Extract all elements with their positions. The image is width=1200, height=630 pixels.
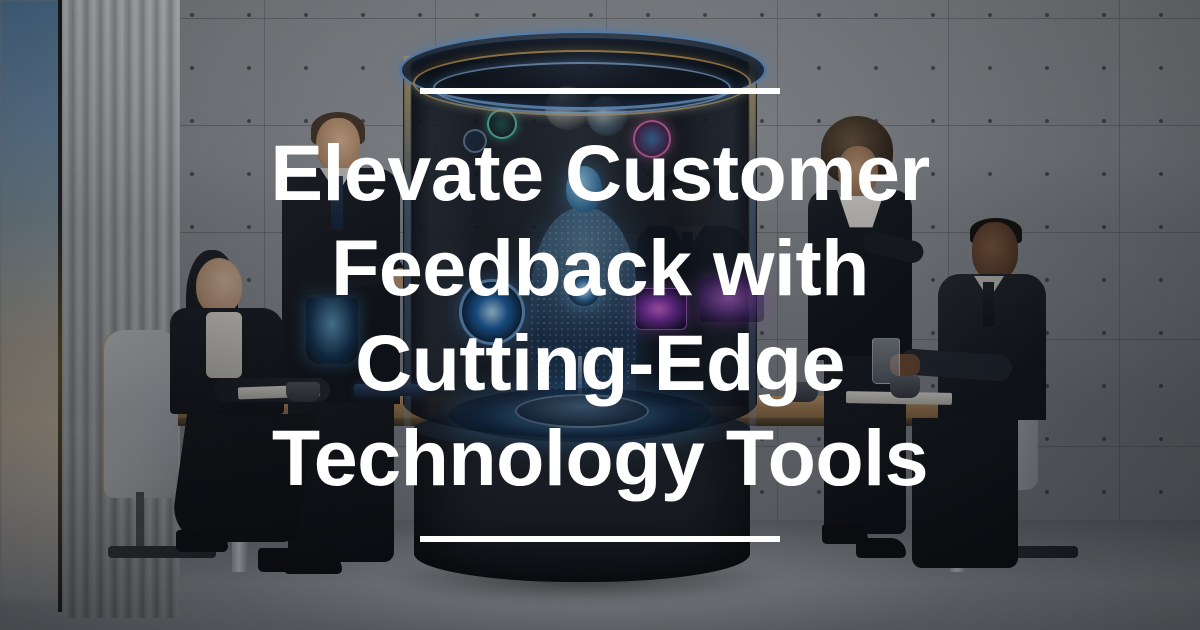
headline-line-2: Feedback with xyxy=(0,220,1200,315)
page-title: Elevate Customer Feedback with Cutting-E… xyxy=(0,125,1200,505)
headline-line-3: Cutting-Edge xyxy=(0,315,1200,410)
headline-overlay: Elevate Customer Feedback with Cutting-E… xyxy=(0,0,1200,630)
rule-top xyxy=(420,88,780,94)
hero-banner: Elevate Customer Feedback with Cutting-E… xyxy=(0,0,1200,630)
rule-bottom xyxy=(420,536,780,542)
headline-line-4: Technology Tools xyxy=(0,410,1200,505)
headline-line-1: Elevate Customer xyxy=(0,125,1200,220)
